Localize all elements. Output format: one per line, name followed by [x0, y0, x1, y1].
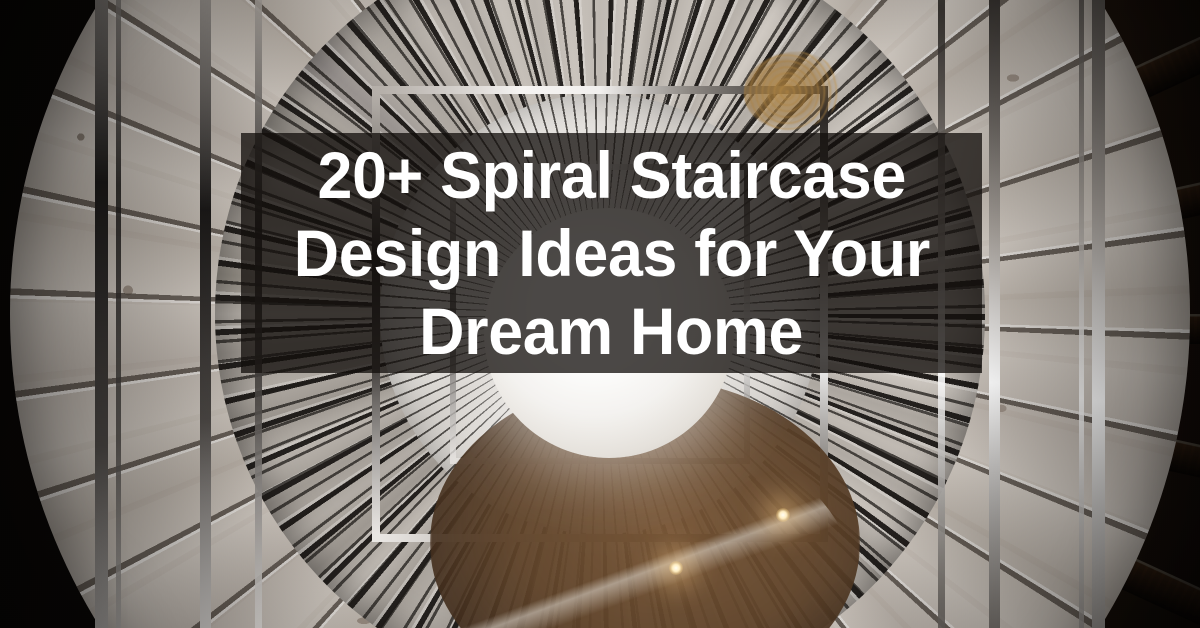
- title-line-3: Dream Home: [420, 292, 804, 370]
- title-overlay-banner: 20+ Spiral Staircase Design Ideas for Yo…: [241, 133, 982, 373]
- hero-image-canvas: 20+ Spiral Staircase Design Ideas for Yo…: [0, 0, 1200, 628]
- recessed-downlight: [669, 561, 683, 575]
- recessed-downlight: [776, 508, 790, 522]
- title-line-1: 20+ Spiral Staircase: [317, 136, 906, 214]
- title-line-2: Design Ideas for Your: [293, 214, 929, 292]
